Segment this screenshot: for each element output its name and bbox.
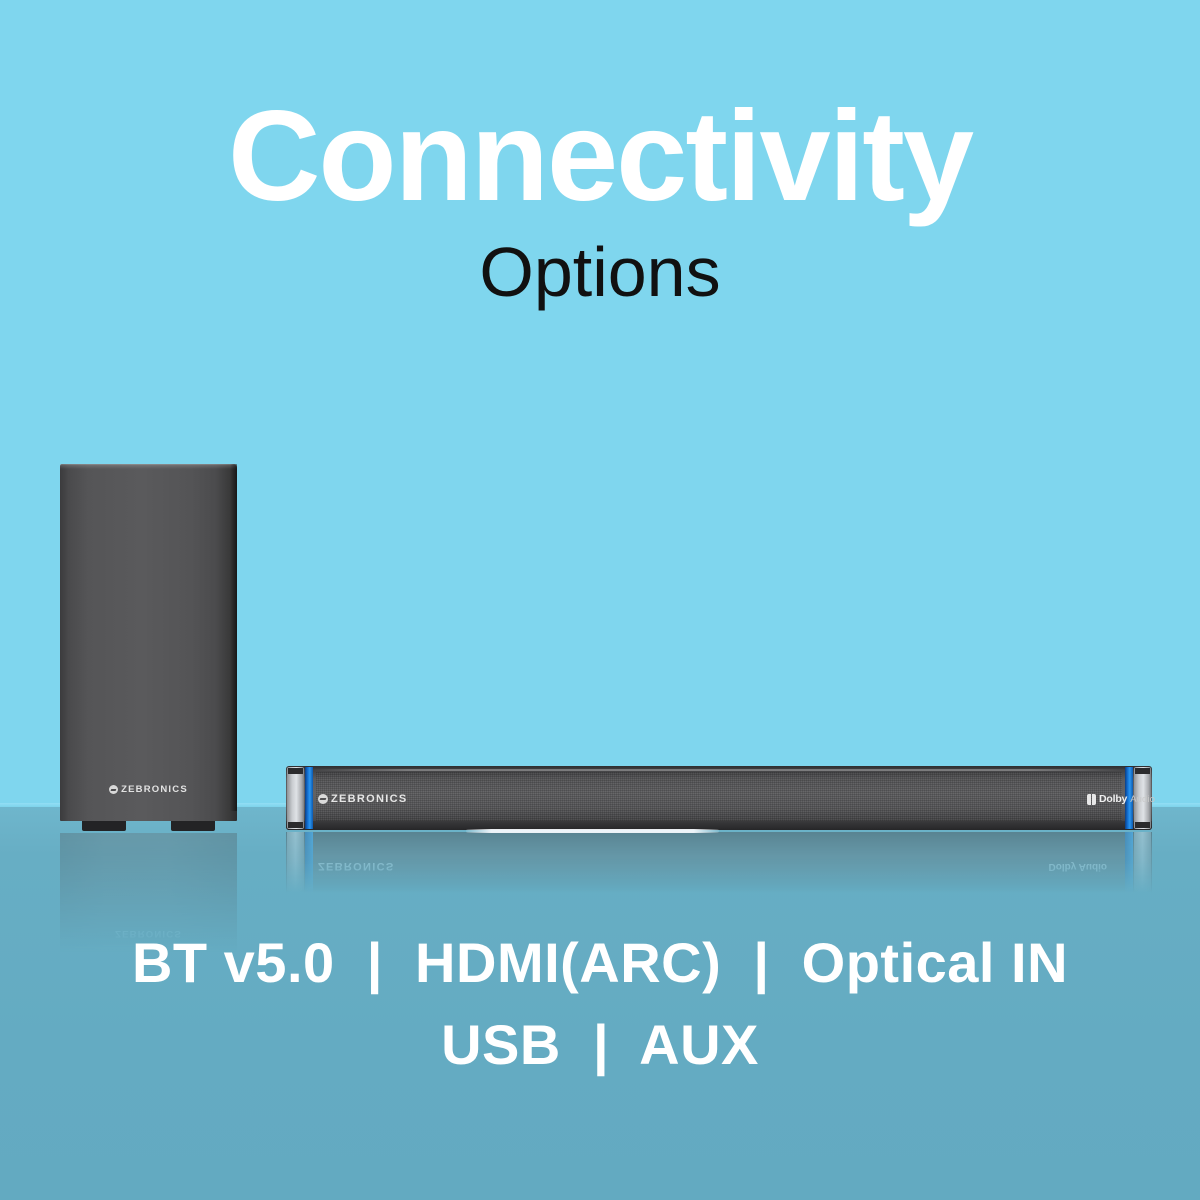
soundbar-top-highlight [310, 769, 1128, 771]
soundbar-brand-text: ZEBRONICS [331, 793, 407, 805]
zebronics-mark-icon [109, 785, 118, 794]
subwoofer-side-edge [230, 464, 237, 811]
soundbar-endcap-notch-bottom-right [1135, 822, 1150, 828]
specs-line-2: USB | AUX [0, 1004, 1200, 1086]
soundbar-endcap-notch-top-left [288, 768, 303, 774]
soundbar [286, 766, 1152, 830]
product-banner: Connectivity Options ZEBRONICS ZEBRONICS… [0, 0, 1200, 1200]
soundbar-endcap-left [287, 767, 304, 829]
dolby-label: Dolby [1099, 793, 1127, 805]
specs-line-1: BT v5.0 | HDMI(ARC) | Optical IN [0, 922, 1200, 1004]
soundbar-endcap-notch-top-right [1135, 768, 1150, 774]
dolby-double-d-icon [1087, 794, 1096, 805]
soundbar-reflection-body [286, 832, 1152, 894]
dolby-audio-logo: Dolby Audio [1087, 793, 1155, 805]
subwoofer: ZEBRONICS [60, 464, 237, 831]
connectivity-specs: BT v5.0 | HDMI(ARC) | Optical IN USB | A… [0, 922, 1200, 1086]
zebronics-mark-icon [318, 794, 328, 804]
subwoofer-brand-text: ZEBRONICS [121, 784, 188, 795]
soundbar-accent-left [305, 767, 313, 829]
soundbar-endcap-notch-bottom-left [288, 822, 303, 828]
subwoofer-foot-right [171, 821, 215, 831]
soundbar-reflection-cap-right [1134, 832, 1151, 894]
page-subtitle: Options [0, 232, 1200, 313]
dolby-sublabel: Audio [1130, 794, 1155, 805]
soundbar-bottom-strip [286, 821, 1152, 830]
soundbar-reflection-accent-left [305, 832, 313, 894]
soundbar-reflection: ZEBRONICS Dolby Audio [286, 832, 1152, 894]
subwoofer-body: ZEBRONICS [60, 464, 237, 821]
subwoofer-top-sheen [60, 464, 237, 469]
page-title: Connectivity [0, 88, 1200, 226]
subwoofer-brand-logo: ZEBRONICS [60, 784, 237, 795]
soundbar-body [286, 766, 1152, 830]
soundbar-reflection-accent-right [1125, 832, 1133, 894]
soundbar-reflection-cap-left [287, 832, 304, 894]
soundbar-reflection-brand: ZEBRONICS [318, 860, 394, 872]
heading-block: Connectivity Options [0, 88, 1200, 313]
soundbar-brand-logo: ZEBRONICS [318, 793, 407, 805]
soundbar-front-edge-highlight [466, 829, 719, 833]
subwoofer-foot-left [82, 821, 126, 831]
soundbar-grille-mesh [316, 772, 1122, 821]
soundbar-reflection-dolby: Dolby Audio [1048, 861, 1107, 872]
